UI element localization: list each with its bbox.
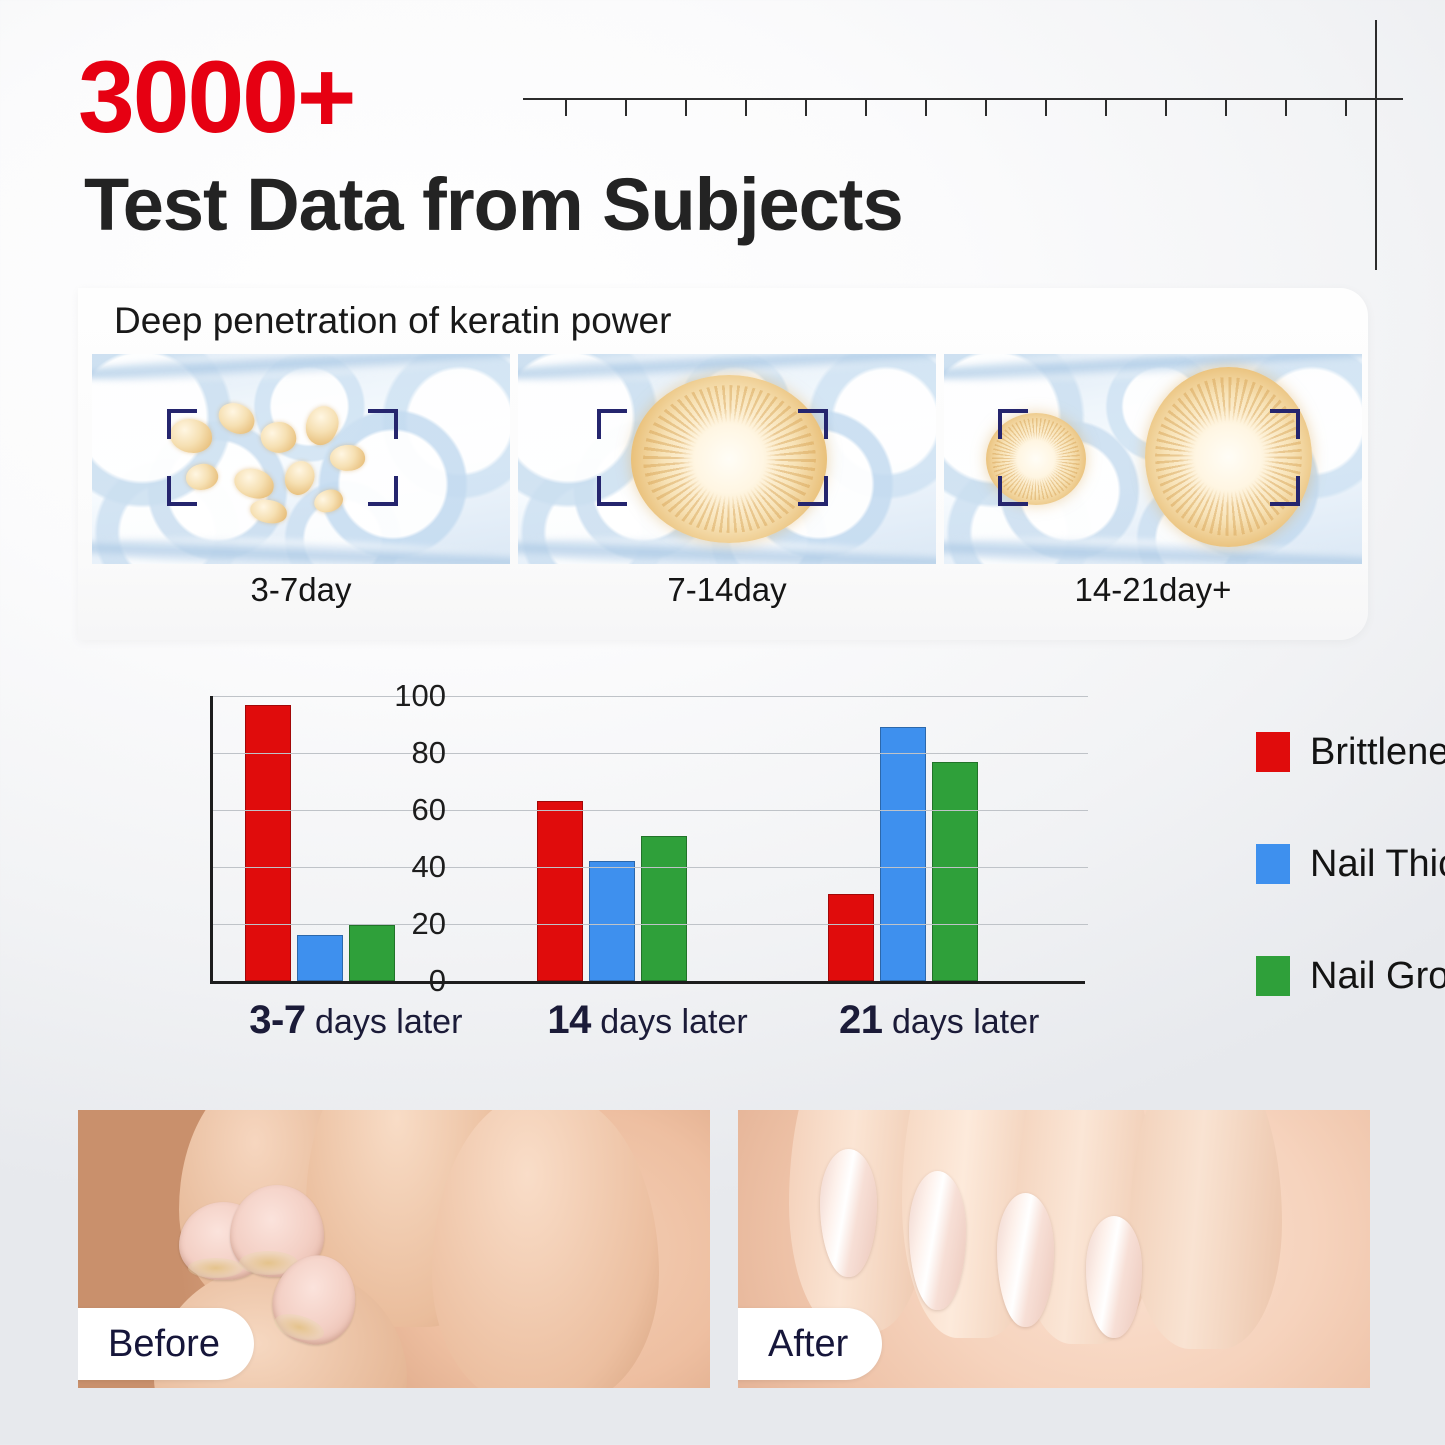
chart-y-tick-label: 0 [429, 963, 446, 999]
chart-x-tick-label: 14 days later [502, 998, 794, 1043]
focus-bracket-icon [998, 409, 1028, 439]
keratin-stage-labels: 3-7day 7-14day 14-21day+ [92, 571, 1362, 609]
chart-x-axis-labels: 3-7 days later14 days later21 days later [210, 998, 1085, 1043]
focus-bracket-icon [798, 476, 828, 506]
chart-gridline [213, 696, 1088, 697]
keratin-stage-label: 3-7day [92, 571, 510, 609]
chart-x-label-number: 21 [839, 998, 883, 1042]
after-photo: After [738, 1110, 1370, 1388]
keratin-stage-label: 7-14day [518, 571, 936, 609]
chart-gridline [213, 753, 1088, 754]
ruler-decoration [523, 98, 1403, 122]
legend-label: Brittleness [1310, 731, 1445, 774]
healthy-nail-icon [1086, 1216, 1143, 1338]
chart-bar [932, 762, 978, 981]
ruler-tick [1165, 100, 1167, 116]
ruler-tick [1345, 100, 1347, 116]
before-label-pill: Before [78, 1308, 254, 1380]
chart-x-label-text: days later [883, 1003, 1040, 1041]
ruler-vertical-line [1375, 20, 1377, 270]
chart-bar [537, 801, 583, 981]
focus-bracket-icon [368, 409, 398, 439]
ruler-tick [925, 100, 927, 116]
chart-x-label-number: 14 [547, 998, 591, 1042]
ruler-tick [685, 100, 687, 116]
chart-x-tick-label: 3-7 days later [210, 998, 502, 1043]
chart-y-tick-label: 20 [412, 906, 446, 942]
keratin-sphere-large-icon [1145, 367, 1312, 548]
headline-subtitle: Test Data from Subjects [84, 168, 903, 242]
focus-bracket-icon [368, 476, 398, 506]
keratin-card-title: Deep penetration of keratin power [114, 300, 671, 342]
ruler-tick [865, 100, 867, 116]
chart-y-tick-label: 40 [412, 849, 446, 885]
keratin-stage-image-1 [92, 354, 510, 564]
ruler-tick [1105, 100, 1107, 116]
headline-count: 3000+ [78, 46, 354, 148]
chart-legend-item: Nail Thickness [1256, 808, 1445, 920]
ruler-tick [745, 100, 747, 116]
legend-label: Nail Growth [1310, 955, 1445, 998]
focus-bracket-icon [1270, 409, 1300, 439]
legend-color-swatch [1256, 844, 1290, 884]
chart-y-tick-label: 60 [412, 792, 446, 828]
ruler-tick [1225, 100, 1227, 116]
legend-color-swatch [1256, 956, 1290, 996]
after-label-pill: After [738, 1308, 882, 1380]
chart-x-label-text: days later [591, 1003, 748, 1041]
before-after-section: Before After [78, 1110, 1370, 1388]
ruler-tick [805, 100, 807, 116]
chart-legend: BrittlenessNail ThicknessNail Growth [1256, 696, 1445, 1032]
chart-legend-item: Brittleness [1256, 696, 1445, 808]
chart-bar-group [796, 696, 1088, 981]
chart-bars-container [213, 696, 1088, 981]
keratin-penetration-card: Deep penetration of keratin power [78, 288, 1368, 640]
chart-bar-group [505, 696, 797, 981]
chart-gridline [213, 810, 1088, 811]
focus-bracket-icon [167, 409, 197, 439]
keratin-stage-image-3 [944, 354, 1362, 564]
chart-gridline [213, 867, 1088, 868]
page-header: 3000+ Test Data from Subjects [0, 0, 1445, 285]
keratin-stage-label: 14-21day+ [944, 571, 1362, 609]
keratin-sphere-icon [631, 375, 827, 543]
keratin-stage-image-2 [518, 354, 936, 564]
ruler-tick [565, 100, 567, 116]
focus-bracket-icon [597, 409, 627, 439]
focus-bracket-icon [1270, 476, 1300, 506]
focus-bracket-icon [597, 476, 627, 506]
focus-bracket-icon [167, 476, 197, 506]
ruler-tick [625, 100, 627, 116]
ruler-tick [1045, 100, 1047, 116]
chart-bar-group [213, 696, 505, 981]
chart-bar [641, 836, 687, 981]
chart-x-label-text: days later [306, 1003, 463, 1041]
chart-plot-area [210, 696, 1085, 984]
keratin-image-strip [92, 354, 1362, 564]
chart-gridline [213, 924, 1088, 925]
legend-color-swatch [1256, 732, 1290, 772]
ruler-tick [1285, 100, 1287, 116]
focus-bracket-icon [998, 476, 1028, 506]
chart-bar [828, 894, 874, 981]
chart-bar [245, 705, 291, 981]
chart-legend-item: Nail Growth [1256, 920, 1445, 1032]
focus-bracket-icon [798, 409, 828, 439]
legend-label: Nail Thickness [1310, 843, 1445, 886]
chart-bar [589, 861, 635, 981]
ruler-tick [985, 100, 987, 116]
chart-bar [880, 727, 926, 981]
results-bar-chart: 020406080100 3-7 days later14 days later… [148, 686, 1398, 1066]
chart-x-label-number: 3-7 [249, 998, 305, 1042]
chart-y-tick-label: 100 [394, 678, 446, 714]
chart-x-tick-label: 21 days later [793, 998, 1085, 1043]
chart-bar [297, 935, 343, 981]
chart-bar [349, 925, 395, 981]
chart-y-tick-label: 80 [412, 735, 446, 771]
ruler-baseline [523, 98, 1403, 100]
before-photo: Before [78, 1110, 710, 1388]
